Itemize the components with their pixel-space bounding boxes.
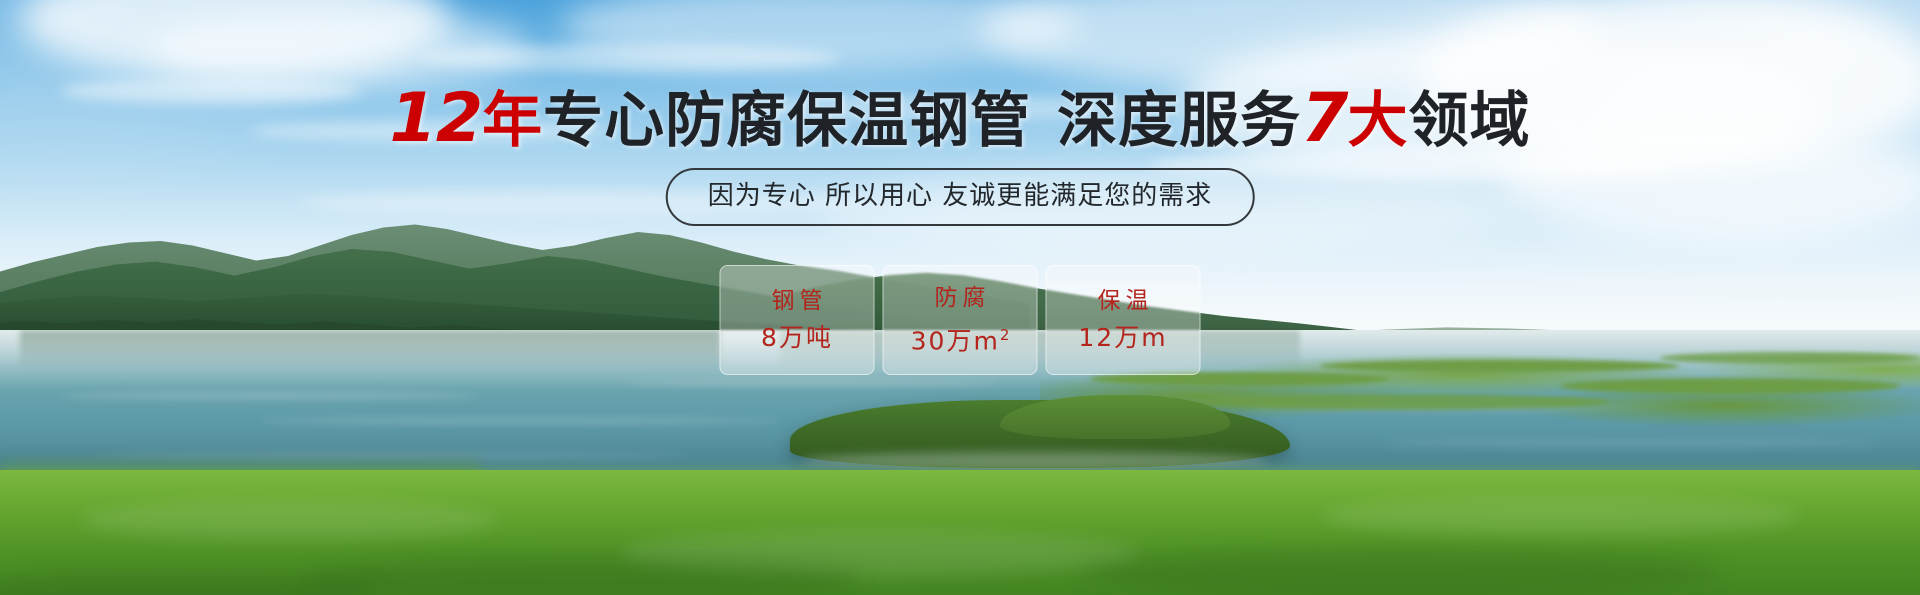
- headline-fields-unit: 大: [1347, 86, 1408, 156]
- promo-banner: 12年专心防腐保温钢管深度服务7大领域 因为专心 所以用心 友诚更能满足您的需求…: [0, 0, 1920, 595]
- subtitle-pill: 因为专心 所以用心 友诚更能满足您的需求: [666, 168, 1255, 226]
- stat-card-value: 8万吨: [761, 324, 833, 352]
- stat-value-text: 30万m: [911, 326, 1000, 355]
- stat-value-text: 12万m: [1078, 323, 1167, 352]
- stat-cards: 钢管 8万吨 防腐 30万m2 保温 12万m: [720, 265, 1201, 375]
- headline-fields-text: 领域: [1408, 86, 1530, 156]
- headline-main-text: 专心防腐保温钢管: [543, 86, 1031, 156]
- stat-card-insulation: 保温 12万m: [1046, 265, 1201, 375]
- stat-card-label: 保温: [1093, 288, 1154, 314]
- headline-years-unit: 年: [482, 86, 543, 156]
- stat-card-label: 防腐: [930, 285, 991, 311]
- headline: 12年专心防腐保温钢管深度服务7大领域: [0, 84, 1920, 156]
- headline-service-text: 深度服务: [1057, 86, 1301, 156]
- headline-fields-number: 7: [1301, 79, 1347, 158]
- headline-years-number: 12: [390, 79, 483, 158]
- stat-card-anticorrosion: 防腐 30万m2: [883, 265, 1038, 375]
- stat-card-value: 30万m2: [911, 321, 1010, 355]
- stat-card-steel-pipe: 钢管 8万吨: [720, 265, 875, 375]
- stat-value-superscript: 2: [1000, 326, 1010, 344]
- stat-card-value: 12万m: [1078, 324, 1167, 352]
- stat-card-label: 钢管: [767, 288, 828, 314]
- stat-value-text: 8万吨: [761, 323, 833, 352]
